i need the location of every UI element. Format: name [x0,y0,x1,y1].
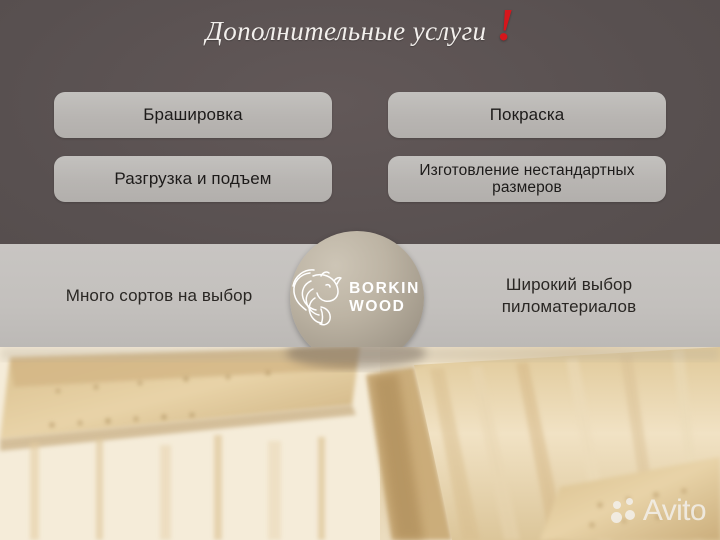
brand-logo-badge: BORKIN WOOD [290,231,424,365]
avito-label: Avito [643,496,706,526]
service-button-painting[interactable]: Покраска [388,92,666,138]
headline-row: Дополнительные услуги ! [0,16,720,47]
brand-name-line2: WOOD [349,298,420,316]
exclamation-mark-icon: ! [496,7,514,43]
service-button-brushing[interactable]: Брашировка [54,92,332,138]
avito-dots-icon [611,498,637,524]
top-panel: Дополнительные услуги ! Брашировка Покра… [0,0,720,244]
page-title: Дополнительные услуги [206,16,487,47]
service-button-custom-sizes[interactable]: Изготовление нестандартных размеров [388,156,666,202]
brand-name-line1: BORKIN [349,280,420,298]
brand-wordmark: BORKIN WOOD [349,280,420,317]
avito-watermark: Avito [611,496,706,526]
advertisement-poster: Дополнительные услуги ! Брашировка Покра… [0,0,720,540]
feature-text-assortment: Много сортов на выбор [34,284,284,306]
feature-text-selection: Широкий выбор пиломатериалов [444,273,694,317]
lion-head-icon [290,265,344,332]
service-button-unloading[interactable]: Разгрузка и подъем [54,156,332,202]
wood-boards-photo: Avito [0,347,720,540]
services-grid: Брашировка Покраска Разгрузка и подъем И… [0,92,720,202]
